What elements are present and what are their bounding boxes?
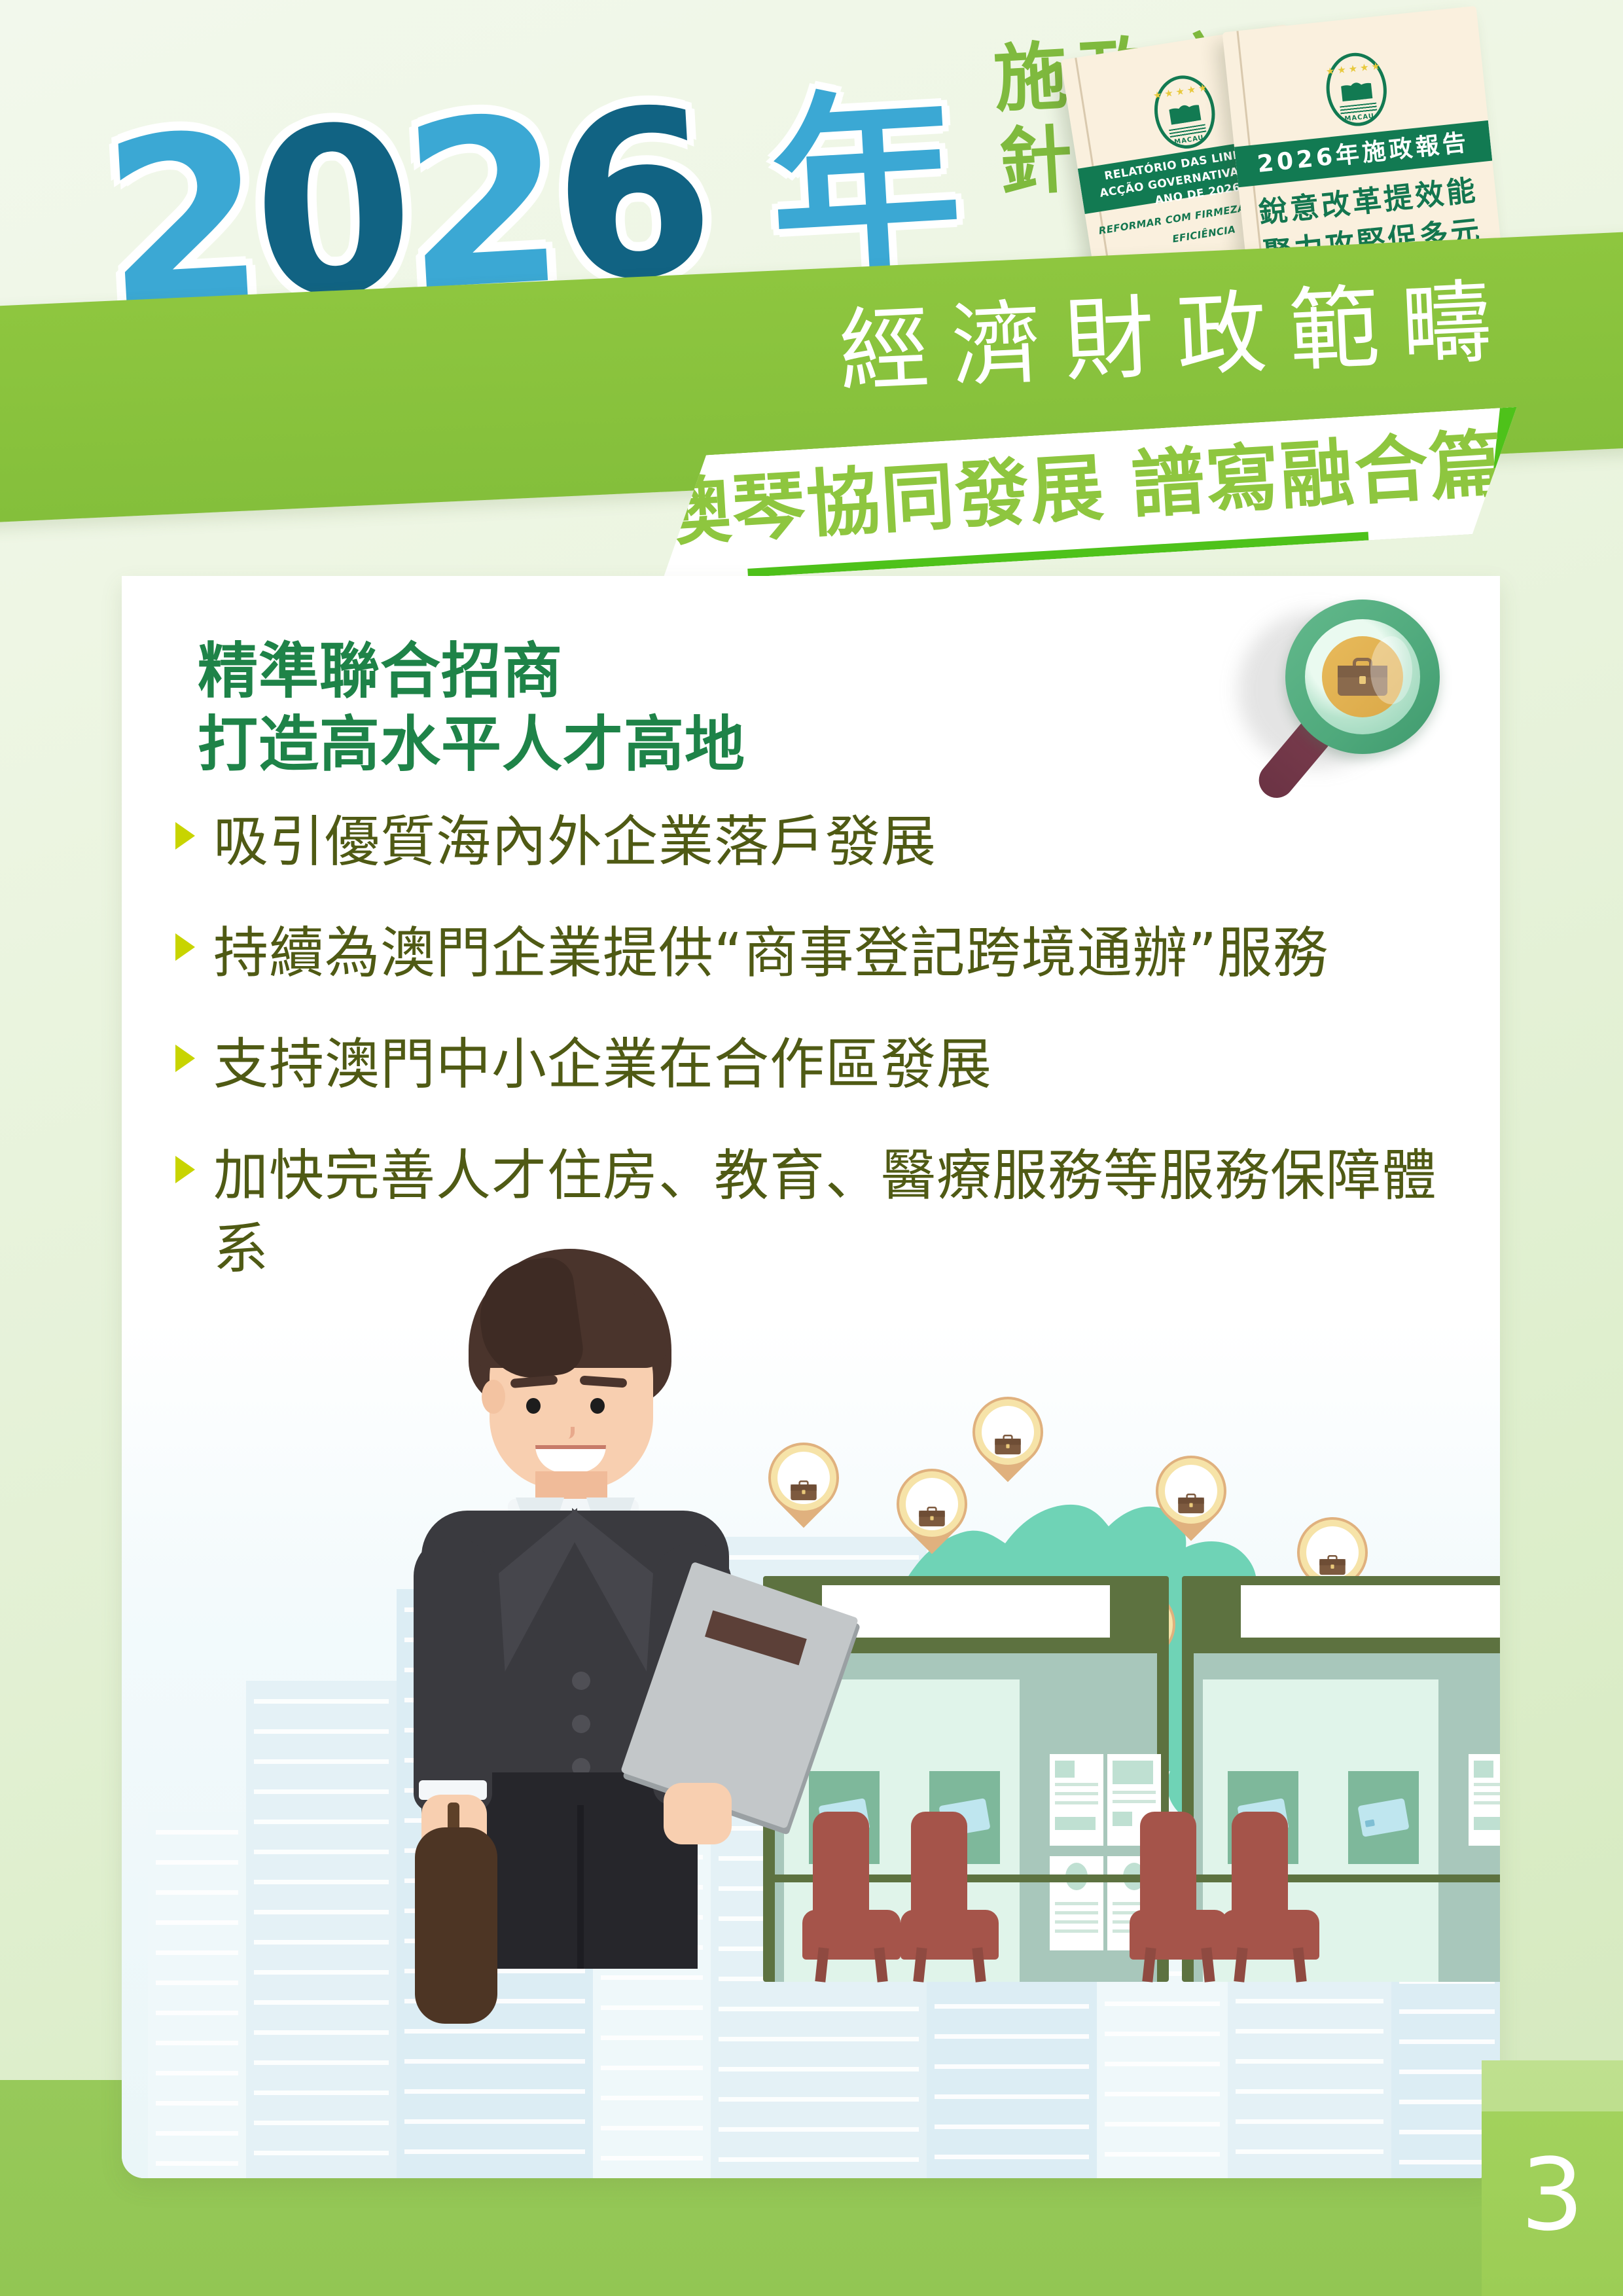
page-tab-cap — [1482, 2060, 1623, 2111]
waiting-chair — [1130, 1812, 1228, 1982]
arm-left — [414, 1537, 492, 1812]
trouser-seam — [577, 1805, 584, 1969]
macau-emblem-icon: ★★★★★ MACAU — [1149, 71, 1220, 153]
lotus-icon — [1340, 72, 1372, 101]
magnifier-briefcase-icon — [1228, 594, 1444, 810]
businessman-figure — [370, 1249, 829, 1962]
briefcase-icon — [1319, 1555, 1346, 1575]
map-pin — [897, 1469, 967, 1564]
illustration — [122, 1223, 1500, 2178]
ear — [482, 1380, 505, 1414]
clipboard-clip — [705, 1610, 807, 1665]
building — [148, 1812, 246, 2178]
page-title-line-1: 精準聯合招商 — [198, 635, 745, 708]
waiting-chair — [901, 1812, 999, 1982]
counter-sign — [1241, 1585, 1500, 1638]
briefcase-bag — [415, 1827, 497, 2024]
page-title-line-2: 打造高水平人才高地 — [198, 708, 745, 781]
service-poster — [1050, 1856, 1103, 1950]
briefcase-icon — [1178, 1494, 1204, 1513]
list-item: 持續為澳門企業提供“商事登記跨境通辦”服務 — [175, 916, 1458, 990]
content-card: 精準聯合招商 打造高水平人才高地 — [122, 576, 1500, 2178]
page-title: 精準聯合招商 打造高水平人才高地 — [198, 635, 745, 781]
triangle-bullet-icon — [175, 1156, 195, 1183]
page-number: 3 — [1482, 2145, 1623, 2245]
list-item-label: 持續為澳門企業提供“商事登記跨境通辦”服務 — [213, 916, 1329, 990]
list-item-label: 支持澳門中小企業在合作區發展 — [213, 1028, 992, 1101]
hand-right — [664, 1783, 732, 1844]
map-pin — [1156, 1456, 1226, 1551]
list-item: 吸引優質海內外企業落戶發展 — [175, 805, 1458, 878]
list-item-label: 吸引優質海內外企業落戶發展 — [213, 805, 936, 878]
briefcase-lock — [1359, 676, 1366, 684]
service-counters — [763, 1576, 1500, 1982]
briefcase-icon — [919, 1507, 945, 1526]
triangle-bullet-icon — [175, 933, 195, 961]
poster-page: 2026 年 施政方針 ★★★★★ MACAU RELATÓRIO DAS LI… — [0, 0, 1623, 2296]
macau-emblem-icon: ★★★★★ MACAU — [1323, 50, 1390, 129]
notice-poster — [1050, 1754, 1103, 1846]
id-card-poster — [1348, 1771, 1419, 1864]
triangle-bullet-icon — [175, 822, 195, 850]
list-item: 支持澳門中小企業在合作區發展 — [175, 1028, 1458, 1101]
poster-header: 2026 年 施政方針 ★★★★★ MACAU RELATÓRIO DAS LI… — [0, 0, 1623, 589]
year-suffix: 年 — [765, 82, 965, 289]
jacket-button — [572, 1672, 590, 1690]
waiting-chair — [1221, 1812, 1319, 1982]
magnifier-ring — [1285, 600, 1440, 754]
triangle-bullet-icon — [175, 1045, 195, 1072]
lotus-icon — [1168, 94, 1202, 125]
banner-title: 經濟財政範疇 — [837, 272, 1516, 401]
briefcase-icon — [995, 1435, 1021, 1454]
notice-poster — [1469, 1754, 1500, 1846]
counter-sign — [822, 1585, 1110, 1638]
eye-right — [590, 1398, 605, 1414]
magnifier-lens — [1305, 619, 1420, 734]
page-number-tab: 3 — [1482, 2060, 1623, 2296]
map-pin — [972, 1397, 1043, 1492]
eye-left — [526, 1398, 541, 1414]
jacket-button — [572, 1715, 590, 1733]
magnifier-glint — [1370, 636, 1412, 704]
